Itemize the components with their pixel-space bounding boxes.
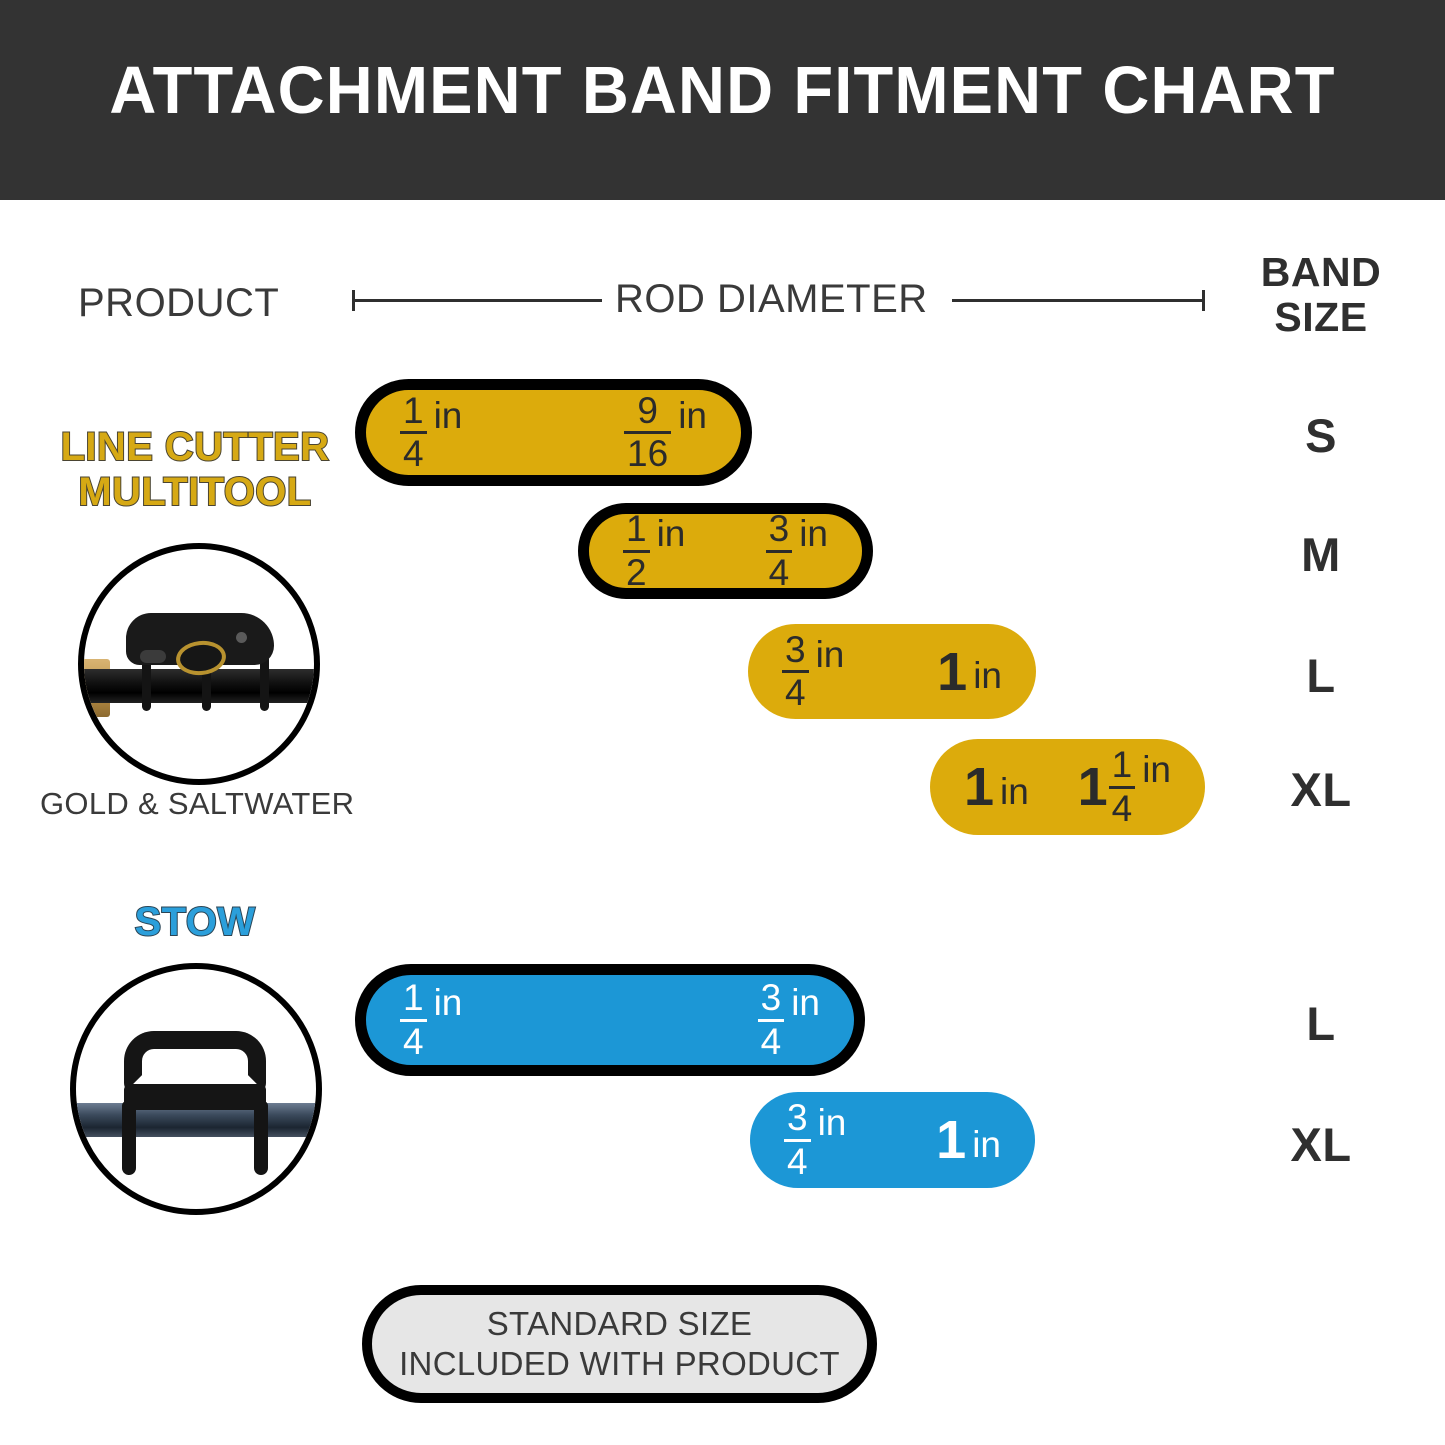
range-min-label: 3 4 in (784, 1100, 846, 1180)
range-pill-line-cutter-s: 1 4 in 9 16 in (355, 379, 752, 486)
unit-label: in (434, 984, 463, 1021)
tool-slot-icon (140, 650, 166, 663)
product-title-stow: STOW (60, 900, 330, 945)
range-min-label: 1 2 in (623, 511, 685, 591)
unit-label: in (972, 1126, 1001, 1163)
stow-hook-photo (70, 963, 322, 1215)
range-min-label: 1 4 in (400, 980, 462, 1060)
band-size-line-cutter-s: S (1236, 408, 1406, 463)
range-min-label: 1 4 in (400, 393, 462, 473)
unit-label: in (791, 984, 820, 1021)
band-size-stow-l: L (1236, 996, 1406, 1051)
range-max-label: 1 in (936, 1113, 1001, 1167)
rod-axis-tick-start (352, 290, 355, 311)
line-cutter-multitool-photo (78, 543, 320, 785)
range-max-label: 9 16 in (624, 393, 707, 473)
rod-axis-tick-end (1202, 290, 1205, 311)
rod-axis-rule-left (352, 299, 602, 302)
fraction-value: 1 4 (400, 980, 427, 1060)
hook-base-icon (124, 1084, 266, 1110)
band-size-line-cutter-l: L (1236, 648, 1406, 703)
column-header-rod-diameter: ROD DIAMETER (615, 277, 928, 322)
unit-label: in (1142, 751, 1171, 788)
unit-label: in (816, 636, 845, 673)
range-max-label: 3 4 in (758, 980, 820, 1060)
legend-label: STANDARD SIZE INCLUDED WITH PRODUCT (399, 1304, 840, 1384)
range-pill-stow-xl: 3 4 in 1 in (750, 1092, 1035, 1188)
fraction-value: 1 4 (1109, 747, 1136, 827)
range-min-label: 3 4 in (782, 632, 844, 712)
fish-eye-icon (236, 632, 247, 643)
fraction-value: 1 4 (400, 393, 427, 473)
fraction-value: 3 4 (782, 632, 809, 712)
fraction-value: 9 16 (624, 393, 671, 473)
range-pill-line-cutter-m: 1 2 in 3 4 in (578, 503, 873, 599)
fraction-value: 3 4 (758, 980, 785, 1060)
standard-size-legend: STANDARD SIZE INCLUDED WITH PRODUCT (362, 1285, 877, 1403)
hook-leg-icon (254, 1101, 268, 1175)
photo-caption-gold-saltwater: GOLD & SALTWATER (40, 786, 350, 822)
range-max-label: 3 4 in (766, 511, 828, 591)
whole-number-value: 1 (937, 645, 966, 699)
range-pill-line-cutter-l: 3 4 in 1 in (748, 624, 1036, 719)
range-pill-line-cutter-xl: 1 in 1 1 4 in (930, 739, 1205, 835)
hook-leg-icon (122, 1101, 136, 1175)
band-size-line-cutter-xl: XL (1236, 762, 1406, 817)
range-max-label: 1 1 4 in (1078, 747, 1171, 827)
fitment-chart-page: ATTACHMENT BAND FITMENT CHART PRODUCT RO… (0, 0, 1445, 1445)
fraction-value: 1 2 (623, 511, 650, 591)
product-title-line-cutter-multitool: LINE CUTTER MULTITOOL (40, 425, 350, 515)
unit-label: in (973, 657, 1002, 694)
unit-label: in (818, 1104, 847, 1141)
unit-label: in (1000, 773, 1029, 810)
band-size-stow-xl: XL (1236, 1117, 1406, 1172)
rod-axis-rule-right (952, 299, 1205, 302)
column-header-product: PRODUCT (78, 281, 279, 326)
unit-label: in (434, 397, 463, 434)
band-size-line-cutter-m: M (1236, 527, 1406, 582)
column-header-band-size: BAND SIZE (1236, 250, 1406, 340)
fraction-value: 3 4 (784, 1100, 811, 1180)
page-title: ATTACHMENT BAND FITMENT CHART (22, 52, 1424, 129)
whole-number-value: 1 (936, 1113, 965, 1167)
unit-label: in (799, 515, 828, 552)
range-pill-stow-l: 1 4 in 3 4 in (355, 964, 865, 1076)
range-min-label: 1 in (964, 760, 1029, 814)
range-max-label: 1 in (937, 645, 1002, 699)
fraction-value: 3 4 (766, 511, 793, 591)
whole-number-value: 1 (964, 760, 993, 814)
unit-label: in (678, 397, 707, 434)
unit-label: in (657, 515, 686, 552)
whole-number-value: 1 (1078, 760, 1107, 814)
